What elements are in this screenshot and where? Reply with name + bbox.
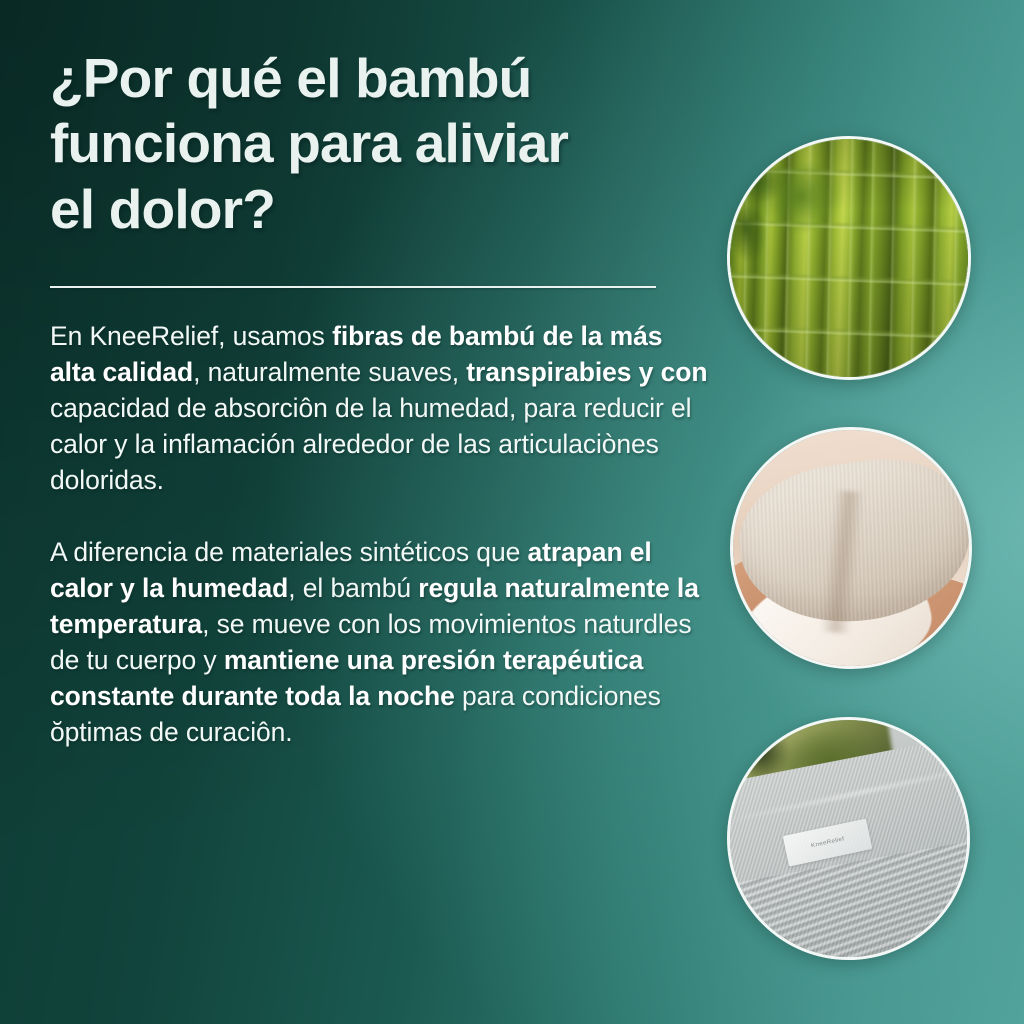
knee-scene: [733, 430, 969, 666]
headline-line-2: funciona para aliviar: [50, 112, 568, 174]
emphasis-text: transpirabies y con: [466, 357, 707, 387]
bamboo-soft-focus: [730, 139, 968, 377]
bamboo-forest-photo: [727, 136, 971, 380]
fabric-scene: KneeRelief: [730, 720, 967, 957]
bamboo-canes: [730, 139, 968, 377]
title-divider: [50, 286, 656, 288]
paragraph-fibers: En KneeRelief, usamos fibras de bambú de…: [50, 318, 710, 498]
body-copy: En KneeRelief, usamos fibras de bambú de…: [50, 318, 710, 750]
paragraph-temperature: A diferencia de materiales sintéticos qu…: [50, 534, 710, 750]
page-title: ¿Por qué el bambú funciona para aliviar …: [50, 46, 750, 242]
poster-canvas: ¿Por qué el bambú funciona para aliviar …: [0, 0, 1024, 1024]
body-text: , el bambú: [288, 573, 418, 603]
headline-line-3: el dolor?: [50, 178, 275, 240]
body-text: En KneeRelief, usamos: [50, 321, 332, 351]
body-text: A diferencia de materiales sintéticos qu…: [50, 537, 528, 567]
headline-line-1: ¿Por qué el bambú: [50, 47, 531, 109]
grey-fabric-photo: KneeRelief: [727, 717, 970, 960]
knee-sleeve-photo: [730, 427, 972, 669]
brand-woven-label-text: KneeRelief: [810, 835, 844, 848]
content-column: ¿Por qué el bambú funciona para aliviar …: [50, 46, 710, 750]
body-text: capacidad de absorciôn de la humedad, pa…: [50, 393, 691, 495]
body-text: , naturalmente suaves,: [193, 357, 466, 387]
